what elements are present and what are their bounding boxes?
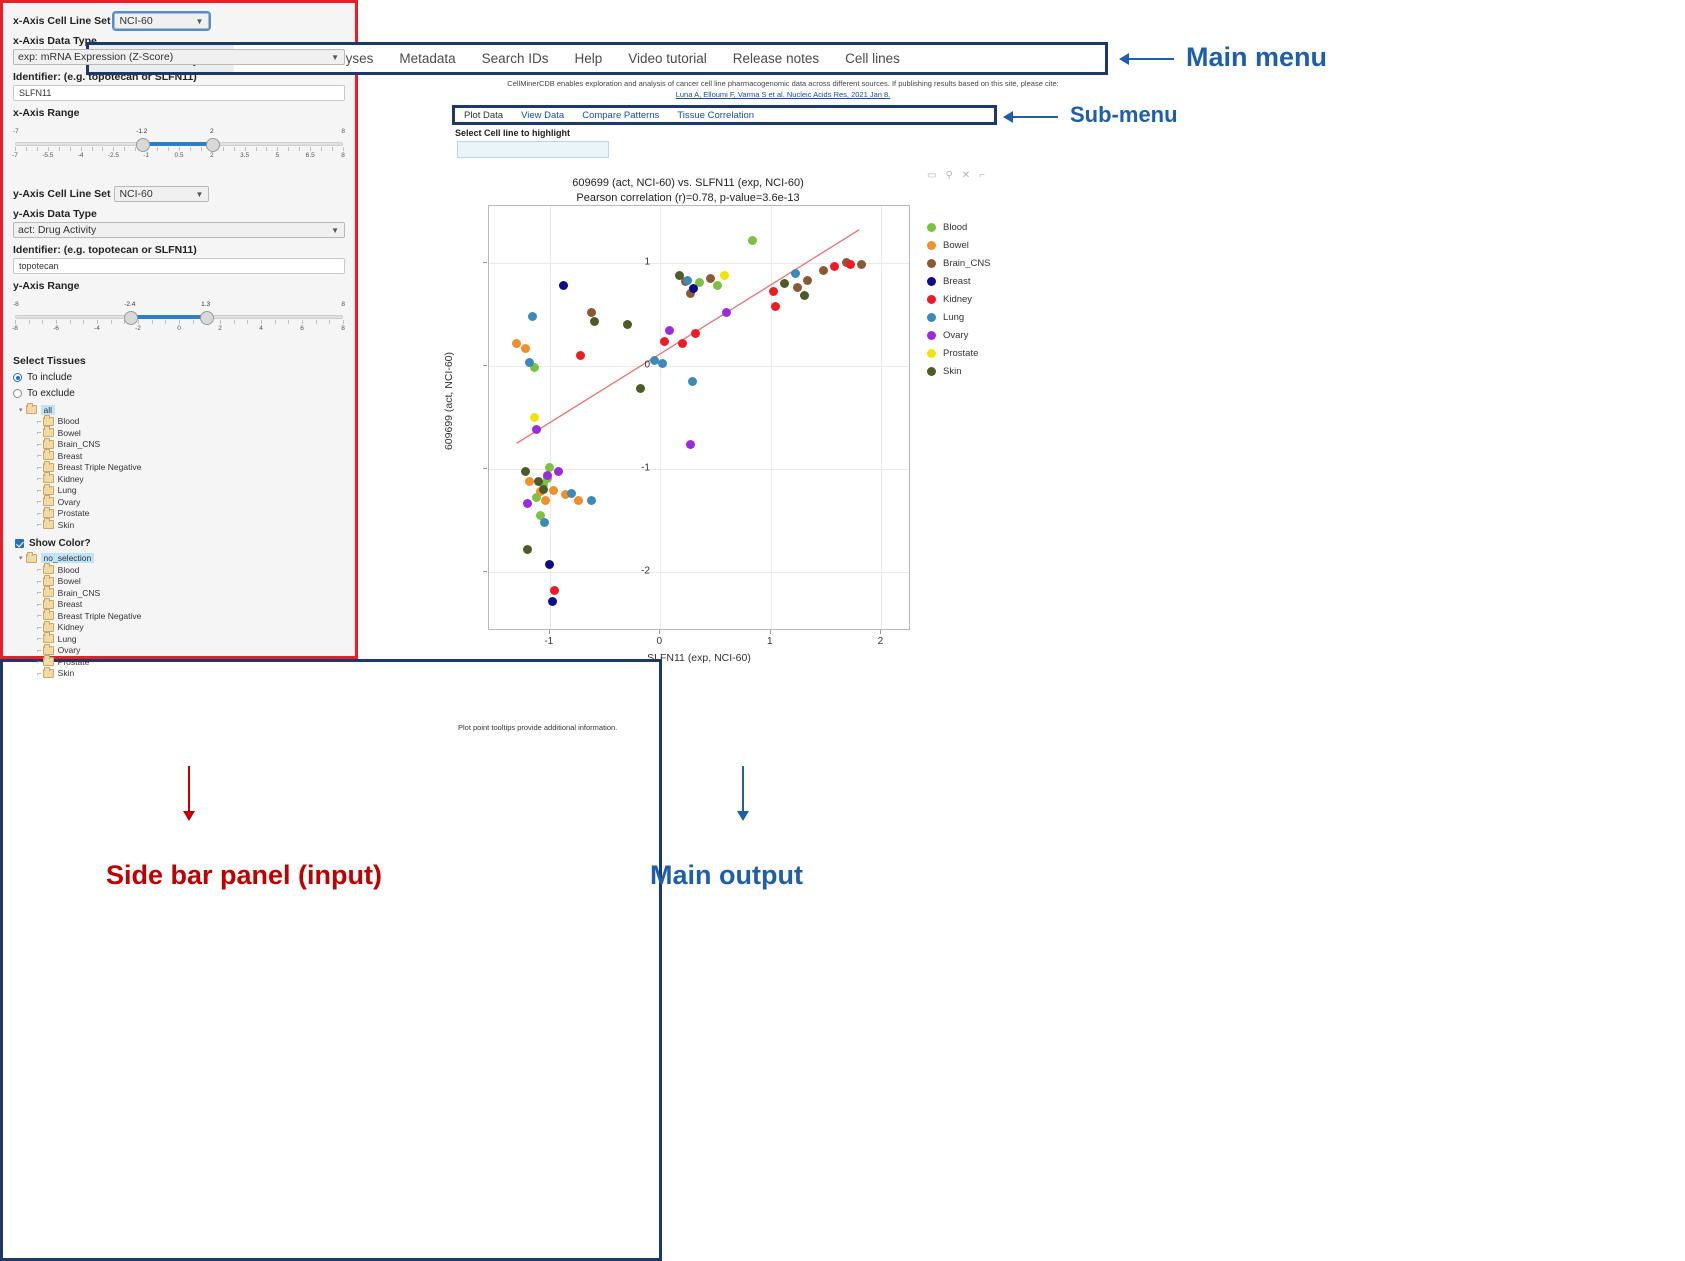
scatter-plot: ▭ ⚲ ✕ ⌐ 609699 (act, NCI-60) vs. SLFN11 … xyxy=(455,160,1111,720)
folder-icon xyxy=(43,497,54,506)
y-axis-tick-label: -2 xyxy=(641,566,650,577)
legend-label: Prostate xyxy=(943,348,978,359)
slider-tick-label: -5.5 xyxy=(42,152,53,159)
folder-icon xyxy=(43,634,54,643)
legend-label: Skin xyxy=(943,366,961,377)
slider-tick-label: 0.5 xyxy=(174,152,183,159)
legend-color-swatch xyxy=(927,223,936,232)
main-output-annotation-arrow xyxy=(742,766,744,812)
tree-branch-icon: ⌐ xyxy=(37,634,41,643)
y-slider-low-label: -2.4 xyxy=(124,301,135,308)
slider-tick-label: 4 xyxy=(259,325,263,332)
tree-node-label: Skin xyxy=(58,520,75,530)
tissue-mode-exclude[interactable]: To exclude xyxy=(13,388,345,399)
radio-exclude-label: To exclude xyxy=(27,388,75,399)
tree-item-kidney[interactable]: ⌐Kidney xyxy=(13,473,345,485)
scatter-point[interactable] xyxy=(512,339,521,348)
plot-title: 609699 (act, NCI-60) vs. SLFN11 (exp, NC… xyxy=(360,177,1016,189)
legend-color-swatch xyxy=(927,295,936,304)
legend-item-kidney[interactable]: Kidney xyxy=(927,294,972,305)
tree-node-label: Bowel xyxy=(58,576,81,586)
scatter-point[interactable] xyxy=(803,276,812,285)
main-menu-annotation-label: Main menu xyxy=(1186,42,1327,73)
sidebar-annotation-label: Side bar panel (input) xyxy=(106,860,382,891)
tree-item-breast[interactable]: ⌐Breast xyxy=(13,450,345,462)
folder-icon xyxy=(43,623,54,632)
x-axis-tick-label: 0 xyxy=(657,636,663,647)
legend-color-swatch xyxy=(927,277,936,286)
legend-item-lung[interactable]: Lung xyxy=(927,312,964,323)
tree-item-breast-triple-negative[interactable]: ⌐Breast Triple Negative xyxy=(13,462,345,474)
folder-icon xyxy=(43,509,54,518)
tree-branch-icon: ⌐ xyxy=(37,669,41,678)
legend-label: Lung xyxy=(943,312,964,323)
tree-branch-icon: ⌐ xyxy=(37,600,41,609)
y-axis-tick-label: 1 xyxy=(644,256,650,267)
tree-item-skin[interactable]: ⌐Skin xyxy=(13,519,345,531)
slider-tick-label: 6 xyxy=(300,325,304,332)
slider-tick-label: 8 xyxy=(341,152,345,159)
legend-item-prostate[interactable]: Prostate xyxy=(927,348,978,359)
highlight-cell-line-input[interactable] xyxy=(457,141,609,158)
sub-menu-item-view-data[interactable]: View Data xyxy=(512,110,573,121)
slider-tick-label: -2 xyxy=(135,325,141,332)
tree-node-label: Prostate xyxy=(58,657,90,667)
scatter-point[interactable] xyxy=(539,485,548,494)
tree-branch-icon: ⌐ xyxy=(37,611,41,620)
tree-branch-icon: ⌐ xyxy=(37,646,41,655)
tree-item-lung[interactable]: ⌐Lung xyxy=(13,485,345,497)
y-axis-tick-mark xyxy=(483,571,487,572)
legend-label: Breast xyxy=(943,276,970,287)
main-menu-item-label: Search IDs xyxy=(482,51,549,66)
x-axis-tick-label: 2 xyxy=(878,636,884,647)
slider-tick-label: -4 xyxy=(78,152,84,159)
tree-node-label: Ovary xyxy=(58,645,81,655)
tree-node-label: Breast xyxy=(58,599,83,609)
scatter-point[interactable] xyxy=(720,271,729,280)
main-output-annotation-label: Main output xyxy=(650,860,803,891)
tree-node-label: Breast xyxy=(58,451,83,461)
y-slider-tick-labels: -8-6-4-202468 xyxy=(13,325,345,335)
main-menu-item-cell-lines[interactable]: Cell lines xyxy=(832,45,913,72)
x-slider-tick-labels: -7-5.5-4-2.5-10.523.556.58 xyxy=(13,152,345,162)
legend-color-swatch xyxy=(927,313,936,322)
tree-branch-icon: ⌐ xyxy=(37,657,41,666)
folder-icon xyxy=(43,520,54,529)
y-axis-tick-mark xyxy=(483,365,487,366)
legend-color-swatch xyxy=(927,331,936,340)
slider-tick-label: 0 xyxy=(177,325,181,332)
tree-branch-icon: ⌐ xyxy=(37,486,41,495)
scatter-point[interactable] xyxy=(548,597,557,606)
main-menu-item-label: Release notes xyxy=(733,51,819,66)
tree-root-node[interactable]: ▾no_selection xyxy=(13,553,345,565)
scatter-point[interactable] xyxy=(686,440,695,449)
slider-tick-label: 3.5 xyxy=(240,152,249,159)
y-slider-knob-high[interactable] xyxy=(200,311,214,325)
sub-menu[interactable]: Plot DataView DataCompare PatternsTissue… xyxy=(452,105,997,125)
x-range-min-cap: -7 xyxy=(13,128,19,135)
x-slider-high-label: 2 xyxy=(210,128,214,135)
radio-include-icon xyxy=(13,373,22,382)
tree-node-label: Lung xyxy=(58,634,77,644)
scatter-point[interactable] xyxy=(665,326,674,335)
slider-tick-label: -8 xyxy=(12,325,18,332)
x-identifier-value: SLFN11 xyxy=(19,88,51,98)
tree-node-label: Ovary xyxy=(58,497,81,507)
tree-root-node[interactable]: ▾all xyxy=(13,404,345,416)
tree-item-brain-cns[interactable]: ⌐Brain_CNS xyxy=(13,587,345,599)
folder-icon xyxy=(43,417,54,426)
scatter-point[interactable] xyxy=(769,287,778,296)
scatter-point[interactable] xyxy=(541,496,550,505)
tree-branch-icon: ⌐ xyxy=(37,577,41,586)
scatter-point[interactable] xyxy=(521,344,530,353)
y-data-type-label: y-Axis Data Type xyxy=(13,208,345,220)
y-cell-line-set-label: y-Axis Cell Line Set xyxy=(13,188,110,200)
main-menu-item-search-ids[interactable]: Search IDs xyxy=(469,45,562,72)
legend-item-ovary[interactable]: Ovary xyxy=(927,330,968,341)
scatter-point[interactable] xyxy=(791,269,800,278)
slider-tick-label: -7 xyxy=(12,152,18,159)
main-menu-item-video-tutorial[interactable]: Video tutorial xyxy=(615,45,720,72)
plot-canvas xyxy=(488,205,910,630)
x-cell-line-set-select[interactable]: NCI-60 ▼ xyxy=(114,13,209,29)
chevron-down-icon: ▼ xyxy=(331,226,339,235)
tree-node-label: Kidney xyxy=(58,474,84,484)
tissue-tree-include[interactable]: ▾all⌐Blood⌐Bowel⌐Brain_CNS⌐Breast⌐Breast… xyxy=(13,404,345,531)
tree-item-blood[interactable]: ⌐Blood xyxy=(13,416,345,428)
sub-menu-item-plot-data[interactable]: Plot Data xyxy=(455,110,512,121)
tree-item-breast[interactable]: ⌐Breast xyxy=(13,599,345,611)
tree-node-label: Blood xyxy=(58,416,80,426)
tree-node-label: Kidney xyxy=(58,622,84,632)
checkbox-checked-icon xyxy=(15,539,24,548)
scatter-point[interactable] xyxy=(523,499,532,508)
folder-icon xyxy=(43,474,54,483)
legend-item-brain_cns[interactable]: Brain_CNS xyxy=(927,258,991,269)
slider-tick-label: 6.5 xyxy=(306,152,315,159)
scatter-point[interactable] xyxy=(521,467,530,476)
tree-item-blood[interactable]: ⌐Blood xyxy=(13,564,345,576)
main-menu-annotation-arrow xyxy=(1128,58,1174,60)
folder-icon xyxy=(43,600,54,609)
folder-icon xyxy=(43,451,54,460)
y-cell-line-set-select[interactable]: NCI-60 ▼ xyxy=(114,186,209,202)
y-slider-fill xyxy=(130,315,206,319)
tree-branch-icon: ⌐ xyxy=(37,509,41,518)
tree-item-bowel[interactable]: ⌐Bowel xyxy=(13,576,345,588)
main-menu-item-metadata[interactable]: Metadata xyxy=(386,45,468,72)
tree-toggle-icon[interactable]: ▾ xyxy=(19,406,23,414)
scatter-point[interactable] xyxy=(793,283,802,292)
main-menu-item-help[interactable]: Help xyxy=(561,45,615,72)
scatter-point[interactable] xyxy=(689,284,698,293)
scatter-point[interactable] xyxy=(722,308,731,317)
radio-exclude-icon xyxy=(13,389,22,398)
main-menu-item-label: Cell lines xyxy=(845,51,900,66)
tree-item-ovary[interactable]: ⌐Ovary xyxy=(13,645,345,657)
y-axis-range-slider[interactable]: -8 8 -2.4 1.3 -8-6-4-202468 xyxy=(13,301,345,337)
y-identifier-input[interactable]: topotecan xyxy=(13,258,345,274)
y-data-type-select[interactable]: act: Drug Activity ▼ xyxy=(13,222,345,238)
tree-item-prostate[interactable]: ⌐Prostate xyxy=(13,508,345,520)
main-menu-item-label: Metadata xyxy=(399,51,455,66)
legend-color-swatch xyxy=(927,259,936,268)
select-tissues-label: Select Tissues xyxy=(13,355,345,367)
folder-icon xyxy=(43,669,54,678)
legend-color-swatch xyxy=(927,349,936,358)
tree-branch-icon: ⌐ xyxy=(37,463,41,472)
scatter-point[interactable] xyxy=(554,467,563,476)
tree-node-label: Breast Triple Negative xyxy=(58,611,142,621)
scatter-point[interactable] xyxy=(748,236,757,245)
x-slider-low-label: -1.2 xyxy=(136,128,147,135)
folder-icon xyxy=(43,486,54,495)
tree-branch-icon: ⌐ xyxy=(37,428,41,437)
tree-node-label: Brain_CNS xyxy=(58,588,101,598)
scatter-point[interactable] xyxy=(678,339,687,348)
sidebar-panel: x-Axis Cell Line Set NCI-60 ▼ x-Axis Dat… xyxy=(0,0,358,659)
y-axis-tick-label: -1 xyxy=(641,463,650,474)
show-color-label: Show Color? xyxy=(29,538,91,549)
tree-branch-icon: ⌐ xyxy=(37,440,41,449)
x-axis-tick-label: 1 xyxy=(767,636,773,647)
main-menu-item-label: Help xyxy=(574,51,602,66)
scatter-point[interactable] xyxy=(550,586,559,595)
slider-tick-label: -4 xyxy=(94,325,100,332)
folder-icon xyxy=(26,554,37,563)
scatter-point[interactable] xyxy=(660,337,669,346)
scatter-point[interactable] xyxy=(706,274,715,283)
scatter-point[interactable] xyxy=(587,308,596,317)
scatter-point[interactable] xyxy=(780,279,789,288)
legend-label: Blood xyxy=(943,222,967,233)
folder-icon xyxy=(43,565,54,574)
x-axis-tick-mark xyxy=(659,630,660,634)
x-axis-tick-mark xyxy=(549,630,550,634)
x-cell-line-set-value: NCI-60 xyxy=(119,15,152,27)
y-slider-high-label: 1.3 xyxy=(201,301,210,308)
scatter-point[interactable] xyxy=(559,281,568,290)
folder-icon xyxy=(43,646,54,655)
folder-icon xyxy=(43,611,54,620)
x-data-type-value: exp: mRNA Expression (Z-Score) xyxy=(18,51,173,63)
y-range-min-cap: -8 xyxy=(13,301,19,308)
tree-branch-icon: ⌐ xyxy=(37,520,41,529)
y-range-max-cap: 8 xyxy=(341,301,345,308)
scatter-point[interactable] xyxy=(587,496,596,505)
scatter-point[interactable] xyxy=(800,291,809,300)
tree-branch-icon: ⌐ xyxy=(37,588,41,597)
tree-node-label: all xyxy=(41,405,56,415)
y-cell-line-set-value: NCI-60 xyxy=(119,188,152,200)
tree-item-breast-triple-negative[interactable]: ⌐Breast Triple Negative xyxy=(13,610,345,622)
scatter-point[interactable] xyxy=(528,312,537,321)
folder-icon xyxy=(43,657,54,666)
legend-label: Ovary xyxy=(943,330,968,341)
tree-node-label: Brain_CNS xyxy=(58,439,101,449)
scatter-point[interactable] xyxy=(543,471,552,480)
scatter-point[interactable] xyxy=(530,413,539,422)
legend-item-blood[interactable]: Blood xyxy=(927,222,967,233)
tree-item-kidney[interactable]: ⌐Kidney xyxy=(13,622,345,634)
show-color-checkbox[interactable]: Show Color? xyxy=(15,538,345,549)
x-cell-line-set-label: x-Axis Cell Line Set xyxy=(13,15,110,27)
tree-node-label: Skin xyxy=(58,668,75,678)
scatter-point[interactable] xyxy=(545,560,554,569)
chevron-down-icon: ▼ xyxy=(331,53,339,62)
scatter-point[interactable] xyxy=(636,384,645,393)
tree-branch-icon: ⌐ xyxy=(37,417,41,426)
tree-branch-icon: ⌐ xyxy=(37,623,41,632)
slider-tick-label: 2 xyxy=(210,152,214,159)
x-axis-range-slider[interactable]: -7 8 -1.2 2 -7-5.5-4-2.5-10.523.556.58 xyxy=(13,128,345,164)
tree-item-lung[interactable]: ⌐Lung xyxy=(13,633,345,645)
folder-icon xyxy=(43,588,54,597)
tree-node-label: Blood xyxy=(58,565,80,575)
slider-tick-label: -2.5 xyxy=(108,152,119,159)
plot-footer-note: Plot point tooltips provide additional i… xyxy=(458,723,617,732)
scatter-point[interactable] xyxy=(623,320,632,329)
chevron-down-icon: ▼ xyxy=(196,190,204,199)
tree-node-label: Bowel xyxy=(58,428,81,438)
sub-menu-item-tissue-correlation[interactable]: Tissue Correlation xyxy=(668,110,763,121)
folder-icon xyxy=(43,463,54,472)
tree-node-label: Lung xyxy=(58,485,77,495)
x-range-label: x-Axis Range xyxy=(13,107,345,119)
sub-menu-item-compare-patterns[interactable]: Compare Patterns xyxy=(573,110,668,121)
y-axis-tick-mark xyxy=(483,468,487,469)
tree-item-brain-cns[interactable]: ⌐Brain_CNS xyxy=(13,439,345,451)
tree-node-label: Breast Triple Negative xyxy=(58,462,142,472)
slider-tick-label: -1 xyxy=(143,152,149,159)
x-axis-tick-mark xyxy=(770,630,771,634)
y-range-label: y-Axis Range xyxy=(13,280,345,292)
legend-label: Kidney xyxy=(943,294,972,305)
citation-line-1: CellMinerCDB enables exploration and ana… xyxy=(452,79,1114,88)
x-slider-fill xyxy=(142,142,212,146)
main-menu-item-release-notes[interactable]: Release notes xyxy=(720,45,832,72)
radio-include-label: To include xyxy=(27,372,72,383)
y-identifier-label: Identifier: (e.g. topotecan or SLFN11) xyxy=(13,244,345,256)
scatter-point[interactable] xyxy=(540,518,549,527)
y-axis-label: 609699 (act, NCI-60) xyxy=(443,352,455,450)
legend-color-swatch xyxy=(927,241,936,250)
y-axis-tick-label: 0 xyxy=(644,359,650,370)
folder-icon xyxy=(43,577,54,586)
x-slider-knob-low[interactable] xyxy=(136,138,150,152)
folder-icon xyxy=(26,405,37,414)
tissue-mode-include[interactable]: To include xyxy=(13,372,345,383)
x-range-max-cap: 8 xyxy=(341,128,345,135)
tree-branch-icon: ⌐ xyxy=(37,497,41,506)
main-output-panel xyxy=(0,659,662,1261)
tree-item-ovary[interactable]: ⌐Ovary xyxy=(13,496,345,508)
citation-link[interactable]: Luna A, Elloumi F, Varma S et al. Nuclei… xyxy=(452,90,1114,99)
folder-icon xyxy=(43,440,54,449)
x-data-type-select[interactable]: exp: mRNA Expression (Z-Score) ▼ xyxy=(13,49,345,65)
folder-icon xyxy=(43,428,54,437)
x-axis-label: SLFN11 (exp, NCI-60) xyxy=(488,652,910,664)
tree-branch-icon: ⌐ xyxy=(37,451,41,460)
plot-subtitle: Pearson correlation (r)=0.78, p-value=3.… xyxy=(360,192,1016,204)
sidebar-annotation-arrow xyxy=(188,766,190,812)
scatter-point[interactable] xyxy=(675,271,684,280)
y-slider-knob-low[interactable] xyxy=(124,311,138,325)
legend-label: Bowel xyxy=(943,240,969,251)
sub-menu-annotation-arrow xyxy=(1012,116,1058,118)
scatter-point[interactable] xyxy=(590,317,599,326)
legend-item-breast[interactable]: Breast xyxy=(927,276,970,287)
tree-branch-icon: ⌐ xyxy=(37,474,41,483)
sub-menu-annotation-label: Sub-menu xyxy=(1070,102,1178,128)
tree-branch-icon: ⌐ xyxy=(37,565,41,574)
main-menu-item-label: Video tutorial xyxy=(628,51,707,66)
tree-node-label: no_selection xyxy=(41,553,95,563)
legend-label: Brain_CNS xyxy=(943,258,991,269)
scatter-point[interactable] xyxy=(574,496,583,505)
scatter-point[interactable] xyxy=(688,377,697,386)
y-data-type-value: act: Drug Activity xyxy=(18,224,96,236)
x-axis-tick-mark xyxy=(880,630,881,634)
slider-tick-label: 8 xyxy=(341,325,345,332)
slider-tick-label: -6 xyxy=(53,325,59,332)
legend-item-skin[interactable]: Skin xyxy=(927,366,961,377)
y-axis-tick-mark xyxy=(483,262,487,263)
x-axis-tick-label: -1 xyxy=(544,636,553,647)
slider-tick-label: 2 xyxy=(218,325,222,332)
x-identifier-input[interactable]: SLFN11 xyxy=(13,85,345,101)
tree-node-label: Prostate xyxy=(58,508,90,518)
legend-color-swatch xyxy=(927,367,936,376)
citation-block: CellMinerCDB enables exploration and ana… xyxy=(452,79,1114,99)
chevron-down-icon: ▼ xyxy=(196,17,204,26)
legend-item-bowel[interactable]: Bowel xyxy=(927,240,969,251)
scatter-point[interactable] xyxy=(771,302,780,311)
tree-item-bowel[interactable]: ⌐Bowel xyxy=(13,427,345,439)
tree-toggle-icon[interactable]: ▾ xyxy=(19,554,23,562)
highlight-cell-line-label: Select Cell line to highlight xyxy=(455,128,570,138)
scatter-point[interactable] xyxy=(549,486,558,495)
slider-tick-label: 5 xyxy=(276,152,280,159)
x-slider-knob-high[interactable] xyxy=(206,138,220,152)
y-identifier-value: topotecan xyxy=(19,261,59,271)
